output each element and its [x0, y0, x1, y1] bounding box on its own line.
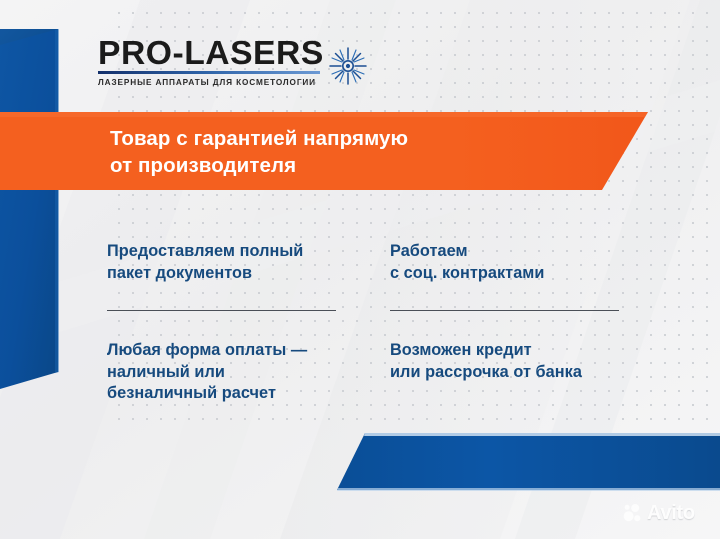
feature-line-1: Предоставляем полный: [107, 241, 303, 263]
poster-canvas: PRO-LASERS ЛАЗЕРНЫЕ АППАРАТЫ ДЛЯ КОСМЕТО…: [0, 0, 720, 539]
feature-divider-left: [107, 310, 336, 311]
feature-divider-right: [390, 310, 619, 311]
feature-item-documents: Предоставляем полный пакет документов: [107, 241, 303, 284]
feature-line-2: или рассрочка от банка: [390, 362, 582, 384]
feature-line-1: Любая форма оплаты —: [107, 340, 307, 362]
avito-dots-icon: [623, 503, 643, 523]
feature-line-2: пакет документов: [107, 263, 303, 285]
feature-line-2: с соц. контрактами: [390, 263, 544, 285]
feature-line-1: Работаем: [390, 241, 544, 263]
feature-item-social-contracts: Работаем с соц. контрактами: [390, 241, 544, 284]
feature-line-2: наличный или: [107, 362, 307, 384]
feature-line-1: Возможен кредит: [390, 340, 582, 362]
feature-line-3: безналичный расчет: [107, 383, 307, 405]
feature-grid: Предоставляем полный пакет документов Ра…: [0, 0, 720, 539]
avito-watermark-text: Avito: [647, 503, 695, 523]
avito-watermark: Avito: [623, 500, 707, 526]
feature-item-credit: Возможен кредит или рассрочка от банка: [390, 340, 582, 383]
feature-item-payment-forms: Любая форма оплаты — наличный или безнал…: [107, 340, 307, 405]
